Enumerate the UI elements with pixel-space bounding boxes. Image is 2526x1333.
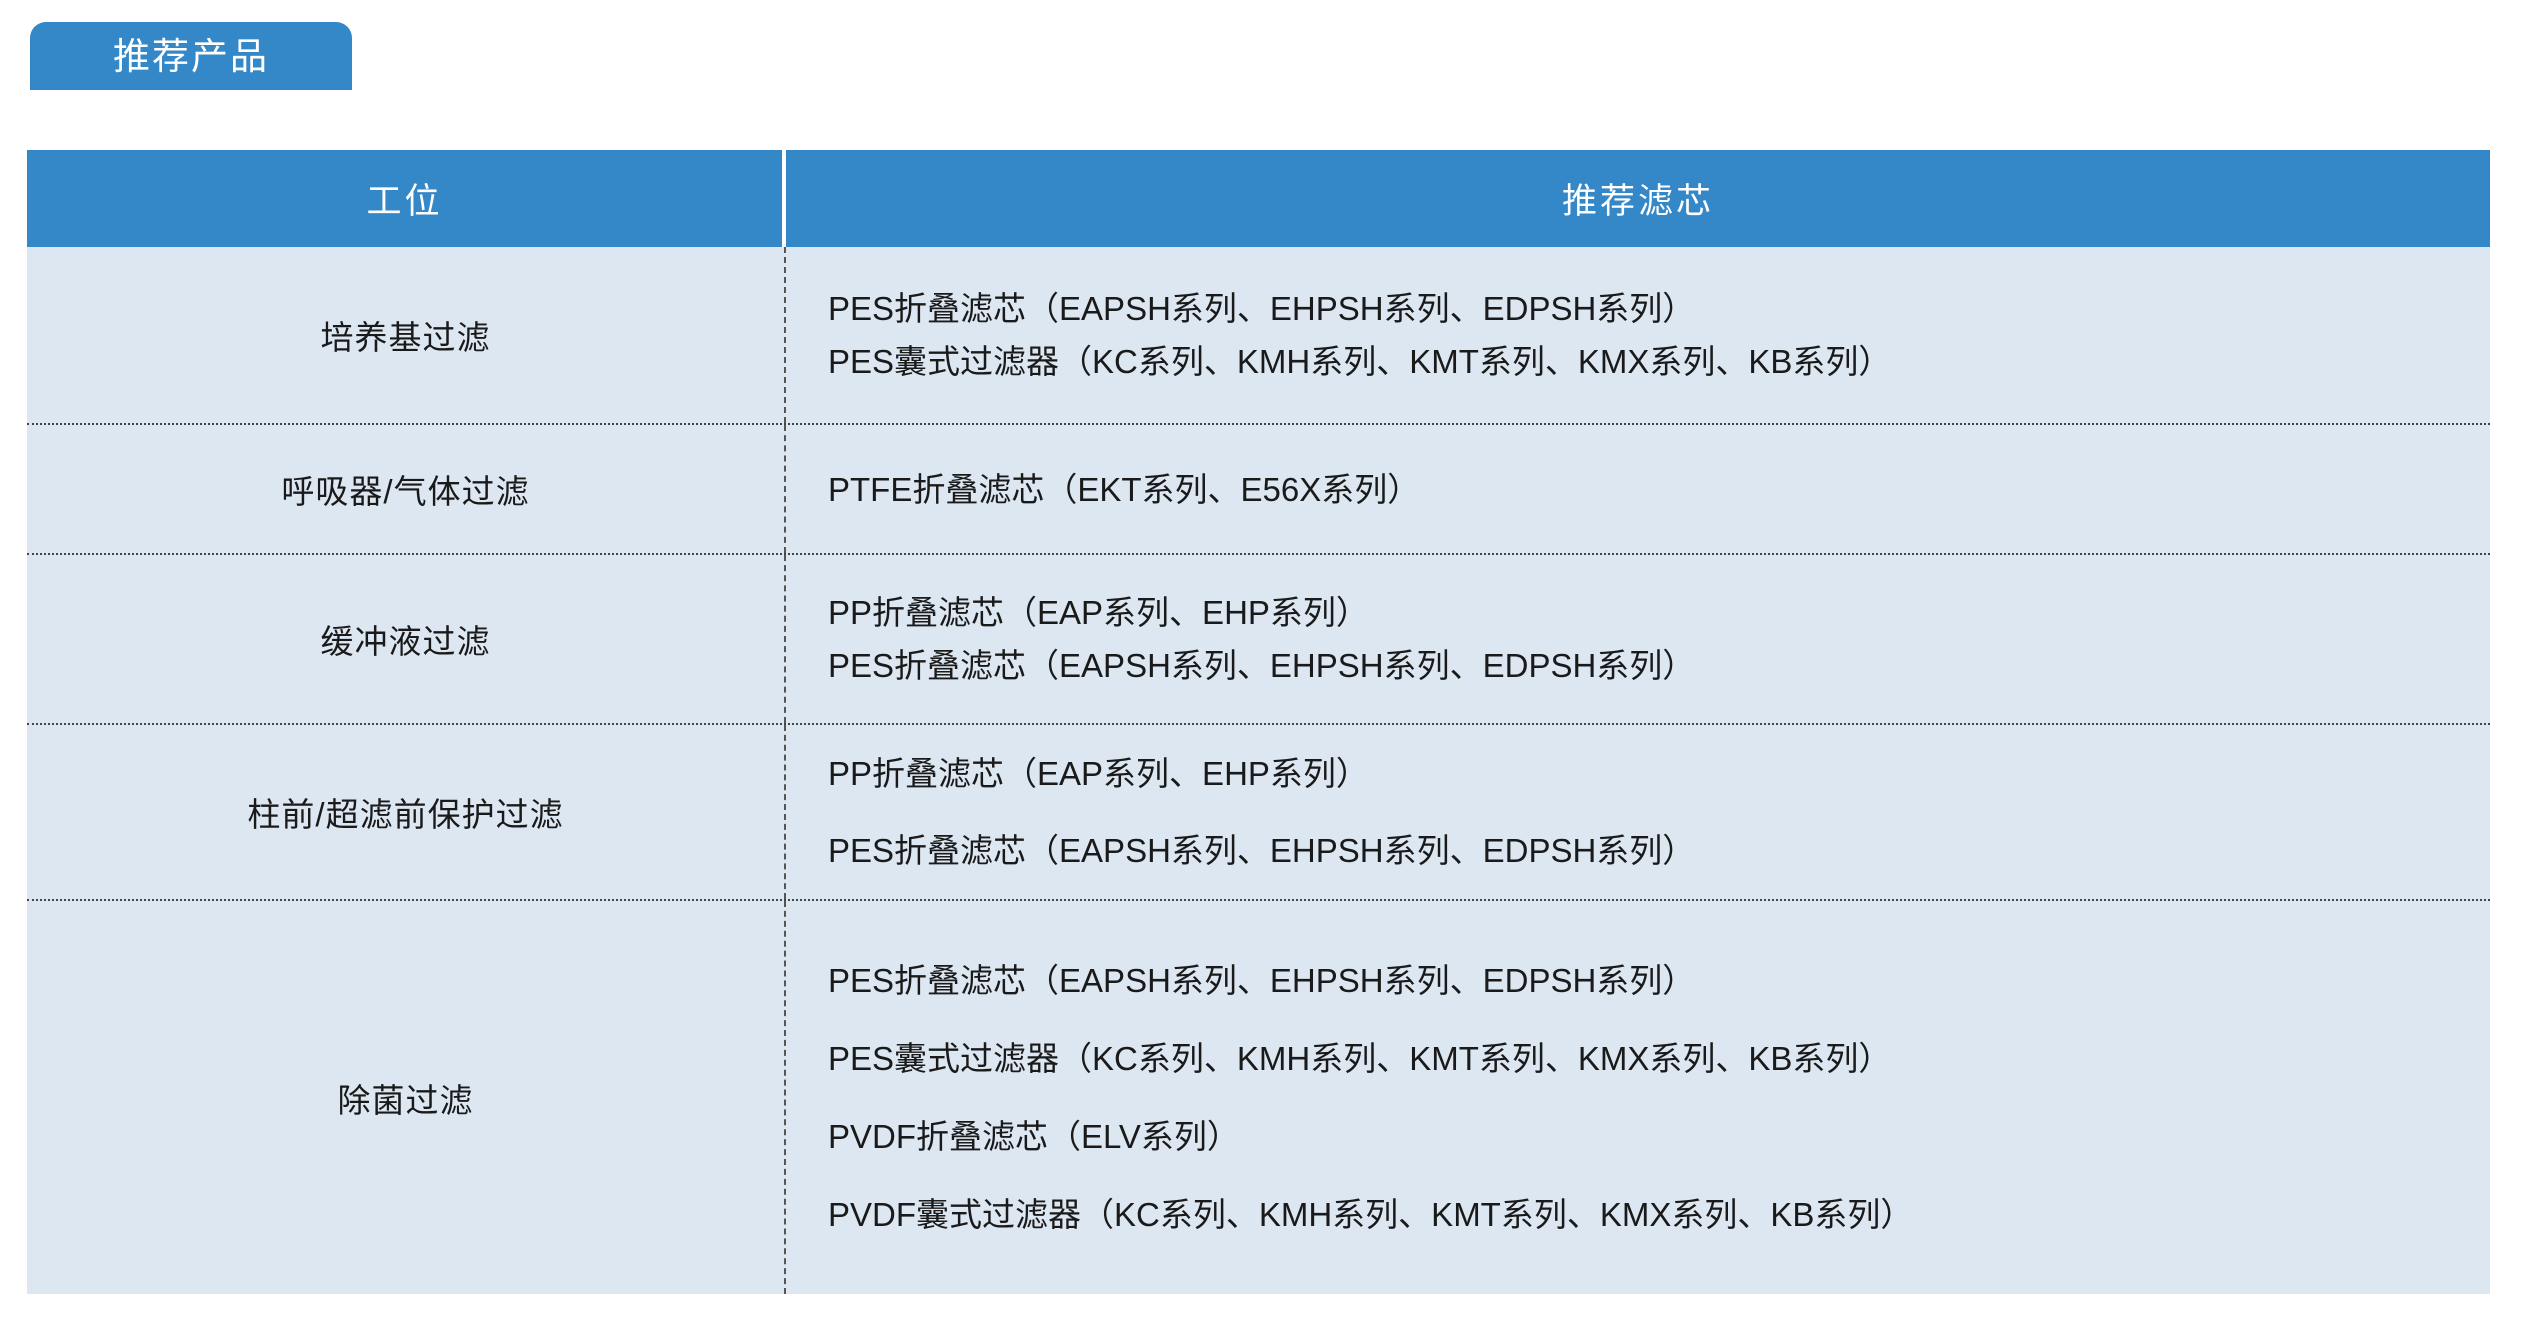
cell-station: 柱前/超滤前保护过滤 <box>27 725 786 899</box>
cell-station: 缓冲液过滤 <box>27 555 786 723</box>
filter-line: PES囊式过滤器（KC系列、KMH系列、KMT系列、KMX系列、KB系列） <box>828 1042 1891 1075</box>
table-header-row: 工位 推荐滤芯 <box>27 150 2490 247</box>
column-header-station-label: 工位 <box>366 173 442 224</box>
filter-line: PES囊式过滤器（KC系列、KMH系列、KMT系列、KMX系列、KB系列） <box>828 345 1891 378</box>
table-row: 柱前/超滤前保护过滤 PP折叠滤芯（EAP系列、EHP系列） PES折叠滤芯（E… <box>27 723 2490 899</box>
station-label: 呼吸器/气体过滤 <box>281 465 529 513</box>
cell-station: 呼吸器/气体过滤 <box>27 425 786 553</box>
cell-station: 培养基过滤 <box>27 247 786 423</box>
column-header-station: 工位 <box>27 150 786 247</box>
cell-filter: PTFE折叠滤芯（EKT系列、E56X系列） <box>786 425 2490 553</box>
filter-line: PES折叠滤芯（EAPSH系列、EHPSH系列、EDPSH系列） <box>828 964 1695 997</box>
column-header-filter-label: 推荐滤芯 <box>1562 173 1714 224</box>
cell-filter: PES折叠滤芯（EAPSH系列、EHPSH系列、EDPSH系列） PES囊式过滤… <box>786 901 2490 1294</box>
filter-line: PVDF囊式过滤器（KC系列、KMH系列、KMT系列、KMX系列、KB系列） <box>828 1198 1913 1231</box>
cell-filter: PP折叠滤芯（EAP系列、EHP系列） PES折叠滤芯（EAPSH系列、EHPS… <box>786 555 2490 723</box>
table-row: 除菌过滤 PES折叠滤芯（EAPSH系列、EHPSH系列、EDPSH系列） PE… <box>27 899 2490 1294</box>
cell-filter: PP折叠滤芯（EAP系列、EHP系列） PES折叠滤芯（EAPSH系列、EHPS… <box>786 725 2490 899</box>
cell-station: 除菌过滤 <box>27 901 786 1294</box>
section-tab-label: 推荐产品 <box>113 38 269 75</box>
station-label: 培养基过滤 <box>321 311 491 359</box>
section-tab-recommended-products: 推荐产品 <box>30 22 352 90</box>
filter-line: PES折叠滤芯（EAPSH系列、EHPSH系列、EDPSH系列） <box>828 834 1695 867</box>
column-header-filter: 推荐滤芯 <box>786 150 2490 247</box>
table-row: 缓冲液过滤 PP折叠滤芯（EAP系列、EHP系列） PES折叠滤芯（EAPSH系… <box>27 553 2490 723</box>
filter-line: PP折叠滤芯（EAP系列、EHP系列） <box>828 757 1369 790</box>
recommended-products-table: 工位 推荐滤芯 培养基过滤 PES折叠滤芯（EAPSH系列、EHPSH系列、ED… <box>27 150 2490 1294</box>
filter-line: PVDF折叠滤芯（ELV系列） <box>828 1120 1240 1153</box>
filter-line: PTFE折叠滤芯（EKT系列、E56X系列） <box>828 473 1420 506</box>
station-label: 缓冲液过滤 <box>321 615 491 663</box>
filter-line: PP折叠滤芯（EAP系列、EHP系列） <box>828 596 1369 629</box>
table-row: 呼吸器/气体过滤 PTFE折叠滤芯（EKT系列、E56X系列） <box>27 423 2490 553</box>
station-label: 除菌过滤 <box>338 1074 474 1122</box>
recommended-products-page: 推荐产品 工位 推荐滤芯 培养基过滤 PES折叠滤芯（EAPSH系列、EHPSH… <box>0 0 2526 1333</box>
station-label: 柱前/超滤前保护过滤 <box>247 788 563 836</box>
filter-line: PES折叠滤芯（EAPSH系列、EHPSH系列、EDPSH系列） <box>828 292 1695 325</box>
filter-line: PES折叠滤芯（EAPSH系列、EHPSH系列、EDPSH系列） <box>828 649 1695 682</box>
table-row: 培养基过滤 PES折叠滤芯（EAPSH系列、EHPSH系列、EDPSH系列） P… <box>27 247 2490 423</box>
cell-filter: PES折叠滤芯（EAPSH系列、EHPSH系列、EDPSH系列） PES囊式过滤… <box>786 247 2490 423</box>
